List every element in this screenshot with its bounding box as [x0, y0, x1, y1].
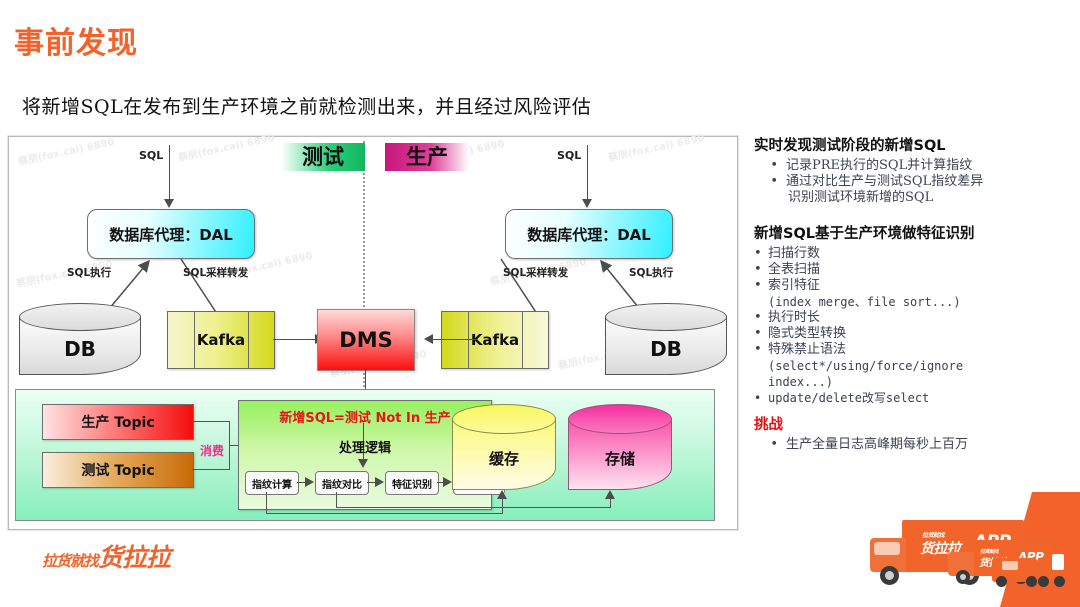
bullet-icon: •: [754, 278, 768, 294]
sql-arrow-line-prod: [587, 145, 588, 203]
step-fingerprint-compare: 指纹对比: [315, 471, 369, 495]
architecture-diagram: 蔡朋(fox.cai) 6890 蔡朋(fox.cai) 6890 蔡朋(fox…: [8, 136, 738, 530]
kafka-label-test: Kafka: [197, 331, 245, 349]
section2-item: •扫描行数: [754, 246, 1070, 262]
section2-item-note: (select*/using/force/ignore: [754, 358, 1070, 374]
brand-logo: 拉货就找货拉拉: [42, 538, 170, 574]
watermark: 蔡朋(fox.cai) 6890: [17, 133, 116, 168]
topic-test-line: [192, 469, 230, 470]
storage-cylinder: 存储: [568, 404, 672, 490]
bullet-icon: •: [754, 437, 786, 453]
scooter-wheel: [1054, 576, 1065, 587]
sql-sample-label-prod: SQL采样转发: [503, 265, 568, 280]
section2-item: •全表扫描: [754, 262, 1070, 278]
consume-label: 消费: [200, 442, 224, 459]
right-text-column: 实时发现测试阶段的新增SQL •记录PRE执行的SQL并计算指纹 •通过对比生产…: [754, 134, 1070, 453]
section2-item: •执行时长: [754, 310, 1070, 326]
sql-arrow-head-prod: [582, 199, 592, 208]
section2-heading: 新增SQL基于生产环境做特征识别: [754, 222, 1070, 243]
bullet-icon: •: [754, 174, 786, 190]
logo-brand: 货拉拉: [98, 543, 170, 572]
step-feature-recognition: 特征识别: [385, 471, 439, 495]
topic-test: 测试 Topic: [42, 452, 194, 488]
dal-box-test: 数据库代理：DAL: [87, 209, 255, 259]
db-label-test: DB: [19, 337, 141, 361]
section2-item: •特殊禁止语法: [754, 342, 1070, 358]
cache-route-h: [266, 513, 502, 514]
kafka-box-prod: Kafka: [441, 311, 549, 369]
scooter-wheel: [1038, 576, 1049, 587]
watermark: 蔡朋(fox.cai) 6890: [177, 129, 276, 164]
truck-artwork: 拉货就找 货拉拉 APP 拉货就找 货拉拉 APP: [852, 492, 1080, 607]
db-cylinder-prod: DB: [605, 303, 727, 375]
cache-label: 缓存: [452, 448, 556, 469]
topic-prod-line: [192, 421, 230, 422]
bullet-icon: •: [754, 246, 768, 262]
kafka-to-dms-line-test: [273, 339, 317, 340]
storage-route-h: [336, 507, 610, 508]
sql-exec-label-test: SQL执行: [67, 265, 111, 280]
section2-item: •索引特征: [754, 278, 1070, 294]
processing-panel: 生产 Topic 测试 Topic 消费 新增SQL=测试 Not In 生产 …: [15, 389, 715, 521]
sql-exec-label-prod: SQL执行: [629, 265, 673, 280]
cache-cylinder: 缓存: [452, 404, 556, 490]
env-badge-test: 测试: [281, 143, 365, 171]
bullet-icon: •: [754, 158, 786, 174]
bullet-icon: •: [754, 310, 768, 326]
challenge-heading: 挑战: [754, 413, 1070, 434]
scooter-box: [1052, 554, 1064, 570]
storage-route-up: [610, 498, 611, 508]
logo-prefix: 拉货就找: [42, 552, 98, 570]
kafka-label-prod: Kafka: [471, 331, 519, 349]
section1-heading: 实时发现测试阶段的新增SQL: [754, 134, 1070, 155]
bullet-icon: •: [754, 262, 768, 278]
section2-item-note: index...): [754, 374, 1070, 390]
kafka-to-dms-head-prod: [424, 334, 433, 344]
section1-item: •通过对比生产与测试SQL指纹差异: [754, 174, 1070, 190]
watermark: 蔡朋(fox.cai) 6890: [607, 129, 706, 164]
page-title: 事前发现: [14, 18, 138, 62]
bullet-icon: •: [754, 326, 768, 342]
sql-input-label-prod: SQL: [557, 149, 581, 162]
cache-route-up: [502, 498, 503, 514]
section1-item-cont: 识别测试环境新增的SQL: [754, 190, 1070, 206]
page-subtitle: 将新增SQL在发布到生产环境之前就检测出来，并且经过风险评估: [22, 92, 591, 119]
storage-route-head: [605, 490, 615, 499]
truck-hub: [885, 571, 894, 580]
section1-item: •记录PRE执行的SQL并计算指纹: [754, 158, 1070, 174]
slide-root: 事前发现 将新增SQL在发布到生产环境之前就检测出来，并且经过风险评估 蔡朋(f…: [0, 0, 1080, 607]
cache-route-down: [266, 492, 267, 514]
section2-item-note: (index merge、file sort...): [754, 294, 1070, 310]
sql-arrow-head-test: [164, 199, 174, 208]
challenge-item: •生产全量日志高峰期每秒上百万: [754, 437, 1070, 453]
bullet-icon: •: [754, 342, 768, 358]
db-label-prod: DB: [605, 337, 727, 361]
section2-item: •update/delete改写select: [754, 390, 1070, 406]
sql-arrow-line-test: [169, 145, 170, 203]
van-window: [1002, 561, 1018, 570]
van-wheel: [996, 576, 1007, 587]
bullet-icon: •: [754, 390, 768, 406]
kafka-to-dms-line-prod: [433, 339, 477, 340]
cache-route-head: [497, 490, 507, 499]
truck-window-large: [874, 542, 900, 555]
storage-route-down: [336, 492, 337, 508]
dms-box: DMS: [317, 309, 415, 371]
topic-prod: 生产 Topic: [42, 404, 194, 440]
env-badge-prod: 生产: [385, 143, 469, 171]
sql-sample-label-test: SQL采样转发: [183, 265, 248, 280]
db-cylinder-test: DB: [19, 303, 141, 375]
truck-hub: [960, 574, 966, 580]
dal-box-prod: 数据库代理：DAL: [505, 209, 673, 259]
kafka-box-test: Kafka: [167, 311, 275, 369]
step-fingerprint-calc: 指纹计算: [245, 471, 299, 495]
van-wheel: [1026, 576, 1037, 587]
storage-label: 存储: [568, 448, 672, 469]
section2-item: •隐式类型转换: [754, 326, 1070, 342]
sql-input-label-test: SQL: [139, 149, 163, 162]
